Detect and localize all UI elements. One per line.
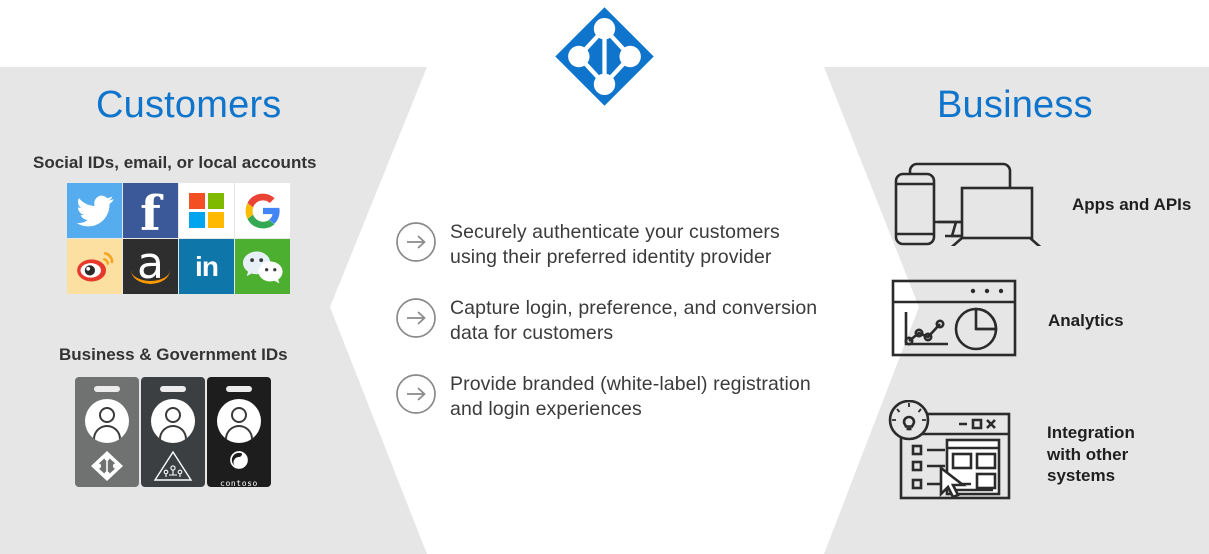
business-row-label: Integration with other systems xyxy=(1047,422,1135,487)
business-row-apps: Apps and APIs xyxy=(890,158,1191,251)
social-tile-linkedin[interactable]: in xyxy=(179,239,234,294)
list-item-label: Capture login, preference, and conversio… xyxy=(450,294,824,346)
social-tile-weibo[interactable] xyxy=(67,239,122,294)
avatar xyxy=(151,399,195,443)
badge-clip xyxy=(226,386,252,392)
social-tile-twitter[interactable] xyxy=(67,183,122,238)
customers-heading: Customers xyxy=(96,84,282,127)
business-row-analytics: Analytics xyxy=(890,278,1124,363)
arrow-right-circle-icon xyxy=(394,372,438,416)
diagram-canvas: Customers Social IDs, email, or local ac… xyxy=(0,0,1209,554)
google-icon xyxy=(244,192,282,230)
list-item-label: Securely authenticate your customers usi… xyxy=(450,218,824,270)
social-provider-grid: f a xyxy=(67,183,290,294)
avatar xyxy=(217,399,261,443)
social-tile-amazon[interactable]: a xyxy=(123,239,178,294)
azure-ad-diamond-icon xyxy=(82,449,132,483)
social-tile-google[interactable] xyxy=(235,183,290,238)
avatar xyxy=(85,399,129,443)
weibo-icon xyxy=(74,250,116,284)
wechat-icon xyxy=(241,247,285,287)
devices-icon xyxy=(890,158,1050,251)
id-badge-government[interactable] xyxy=(141,377,205,487)
id-badge-contoso[interactable]: contoso xyxy=(207,377,271,487)
microsoft-icon xyxy=(189,193,224,228)
arrow-right-circle-icon xyxy=(394,220,438,264)
analytics-icon xyxy=(890,278,1018,363)
social-ids-label: Social IDs, email, or local accounts xyxy=(33,153,316,173)
business-row-integration: Integration with other systems xyxy=(885,400,1135,509)
list-item: Provide branded (white-label) registrati… xyxy=(394,370,824,422)
value-proposition-list: Securely authenticate your customers usi… xyxy=(394,218,824,446)
list-item: Securely authenticate your customers usi… xyxy=(394,218,824,270)
social-tile-wechat[interactable] xyxy=(235,239,290,294)
facebook-icon: f xyxy=(140,190,161,238)
id-badge-group: contoso xyxy=(75,377,271,487)
badge-clip xyxy=(94,386,120,392)
government-triangle-icon xyxy=(148,449,198,483)
social-tile-microsoft[interactable] xyxy=(179,183,234,238)
business-row-label: Apps and APIs xyxy=(1072,194,1191,216)
business-heading: Business xyxy=(937,84,1093,127)
business-row-label: Analytics xyxy=(1048,310,1124,332)
twitter-icon xyxy=(75,191,115,231)
contoso-swirl-icon xyxy=(214,449,264,483)
list-item: Capture login, preference, and conversio… xyxy=(394,294,824,346)
arrow-right-circle-icon xyxy=(394,296,438,340)
badge-clip xyxy=(160,386,186,392)
business-government-ids-label: Business & Government IDs xyxy=(59,345,288,365)
id-badge-azure-ad[interactable] xyxy=(75,377,139,487)
azure-active-directory-b2c-logo-icon xyxy=(551,3,658,110)
social-tile-facebook[interactable]: f xyxy=(123,183,178,238)
linkedin-icon: in xyxy=(195,253,218,281)
list-item-label: Provide branded (white-label) registrati… xyxy=(450,370,824,422)
integration-icon xyxy=(885,400,1025,509)
contoso-label: contoso xyxy=(207,479,271,488)
